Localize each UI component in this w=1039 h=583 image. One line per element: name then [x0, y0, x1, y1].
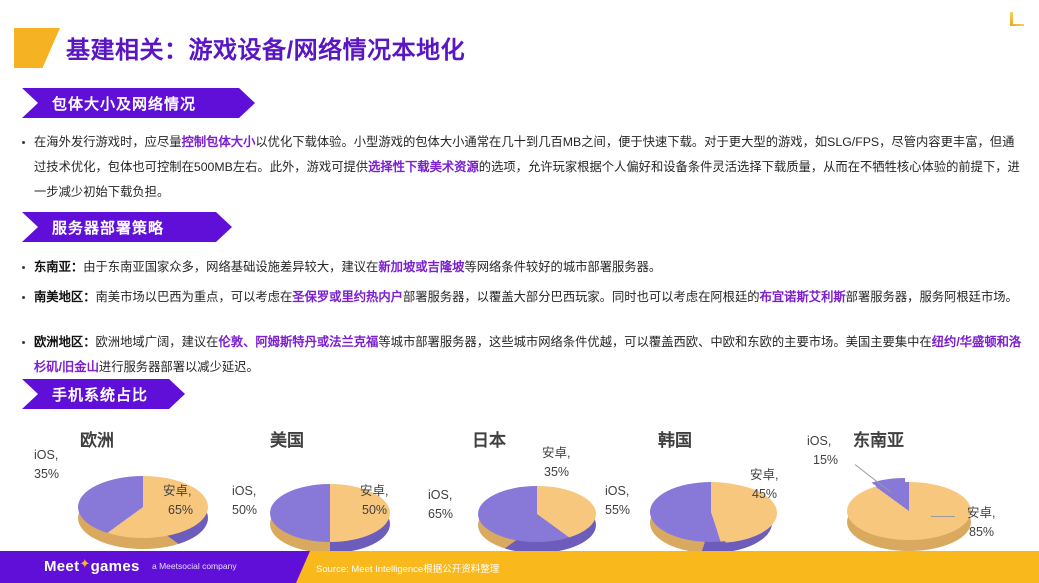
pie-label-ios: iOS, [807, 432, 831, 451]
bullet-south-america: 南美地区：南美市场以巴西为重点，可以考虑在圣保罗或里约热内户部署服务器，以覆盖大… [16, 285, 1026, 310]
pie-chart-title: 美国 [270, 426, 304, 451]
text-run: 部署服务器，以覆盖大部分巴西玩家。同时也可以考虑在阿根廷的 [403, 290, 760, 304]
text-run: 控制包体大小 [182, 135, 256, 149]
pie-graphic [847, 482, 971, 540]
pie-label-ios: iOS, [605, 482, 629, 501]
text-run: 东南亚： [34, 260, 83, 274]
text-run: 伦敦、阿姆斯特丹或法兰克福 [218, 335, 378, 349]
paragraph-package: 在海外发行游戏时，应尽量控制包体大小以优化下载体验。小型游戏的包体大小通常在几十… [16, 130, 1026, 205]
pie-value-android: 50% [362, 501, 387, 520]
page-title: 基建相关：游戏设备/网络情况本地化 [66, 30, 465, 65]
pie-value-android: 65% [168, 501, 193, 520]
pie-chart-东南亚: 东南亚iOS,15%安卓,85% [805, 424, 1015, 552]
pie-graphic [478, 486, 596, 542]
title-accent-shape [14, 28, 60, 68]
pie-chart-title: 韩国 [658, 426, 692, 451]
section-header-package: 包体大小及网络情况 [22, 88, 255, 118]
pie-label-android: 安卓, [542, 444, 570, 463]
pie-chart-title: 日本 [472, 426, 506, 451]
pie-value-android: 85% [969, 523, 994, 542]
text-run: 等城市部署服务器，这些城市网络条件优越，可以覆盖西欧、中欧和东欧的主要市场。美国… [378, 335, 931, 349]
text-run: 布宜诺斯艾利斯 [760, 290, 846, 304]
text-run: 圣保罗或里约热内户 [292, 290, 403, 304]
brand-right: games [91, 558, 140, 575]
paragraph-southeast-asia: 东南亚：由于东南亚国家众多，网络基础设施差异较大，建议在新加坡或吉隆坡等网络条件… [16, 255, 1026, 280]
pie-value-ios: 65% [428, 505, 453, 524]
section-header-package-label: 包体大小及网络情况 [52, 93, 196, 114]
text-run: 等网络条件较好的城市部署服务器。 [464, 260, 661, 274]
section-header-server: 服务器部署策略 [22, 212, 232, 242]
pie-label-ios: iOS, [232, 482, 256, 501]
brand-tagline: a Meetsocial company [152, 561, 237, 571]
text-run: 部署服务器，服务阿根廷市场。 [846, 290, 1018, 304]
pie-chart-日本: 日本iOS,65%安卓,35% [420, 424, 630, 552]
text-run: 进行服务器部署以减少延迟。 [99, 360, 259, 374]
pie-label-android: 安卓, [163, 482, 191, 501]
bullet-europe: 欧洲地区：欧洲地域广阔，建议在伦敦、阿姆斯特丹或法兰克福等城市部署服务器，这些城… [16, 330, 1026, 380]
text-run: 在海外发行游戏时，应尽量 [34, 135, 182, 149]
bullet-package: 在海外发行游戏时，应尽量控制包体大小以优化下载体验。小型游戏的包体大小通常在几十… [16, 130, 1026, 205]
text-run: 选择性下载美术资源 [368, 160, 479, 174]
pie-chart-韩国: 韩国iOS,55%安卓,45% [600, 424, 810, 552]
pie-value-android: 45% [752, 485, 777, 504]
paragraph-europe: 欧洲地区：欧洲地域广阔，建议在伦敦、阿姆斯特丹或法兰克福等城市部署服务器，这些城… [16, 330, 1026, 380]
corner-angle-mark [1008, 12, 1024, 28]
footer-source: Source: Meet Intelligence根据公开资料整理 [316, 561, 499, 575]
os-share-chart-group: 欧洲iOS,35%安卓,65%美国iOS,50%安卓,50%日本iOS,65%安… [0, 424, 1039, 552]
pie-value-ios: 50% [232, 501, 257, 520]
pie-value-ios: 55% [605, 501, 630, 520]
paragraph-south-america: 南美地区：南美市场以巴西为重点，可以考虑在圣保罗或里约热内户部署服务器，以覆盖大… [16, 285, 1026, 310]
text-run: 由于东南亚国家众多，网络基础设施差异较大，建议在 [83, 260, 378, 274]
pie-value-android: 35% [544, 463, 569, 482]
pie-value-ios: 15% [813, 451, 838, 470]
pie-chart-title: 欧洲 [80, 426, 114, 451]
pie-label-android: 安卓, [360, 482, 388, 501]
section-header-os-share: 手机系统占比 [22, 379, 185, 409]
bullet-southeast-asia: 东南亚：由于东南亚国家众多，网络基础设施差异较大，建议在新加坡或吉隆坡等网络条件… [16, 255, 1026, 280]
pie-label-android: 安卓, [967, 504, 995, 523]
slide-root: 基建相关：游戏设备/网络情况本地化 包体大小及网络情况 在海外发行游戏时，应尽量… [0, 0, 1039, 583]
text-run: 欧洲地区： [34, 335, 96, 349]
section-header-server-label: 服务器部署策略 [52, 217, 164, 238]
brand-left: Meet [44, 558, 79, 575]
slide-footer: Meet✦games a Meetsocial company Source: … [0, 551, 1039, 583]
brand-star-icon: ✦ [79, 556, 90, 571]
pie-label-ios: iOS, [428, 486, 452, 505]
pie-top-face [478, 486, 596, 542]
text-run: 南美地区： [34, 290, 96, 304]
brand-logo: Meet✦games [44, 558, 140, 575]
pie-value-ios: 35% [34, 465, 59, 484]
section-header-os-share-label: 手机系统占比 [52, 384, 148, 405]
pie-chart-title: 东南亚 [853, 426, 904, 451]
text-run: 欧洲地域广阔，建议在 [96, 335, 219, 349]
pie-chart-欧洲: 欧洲iOS,35%安卓,65% [18, 424, 228, 552]
pie-exploded-slice [843, 478, 967, 536]
pie-label-ios: iOS, [34, 446, 58, 465]
pie-leader-line [931, 516, 955, 517]
text-run: 南美市场以巴西为重点，可以考虑在 [96, 290, 293, 304]
text-run: 新加坡或吉隆坡 [378, 260, 464, 274]
pie-chart-美国: 美国iOS,50%安卓,50% [222, 424, 432, 552]
pie-label-android: 安卓, [750, 466, 778, 485]
